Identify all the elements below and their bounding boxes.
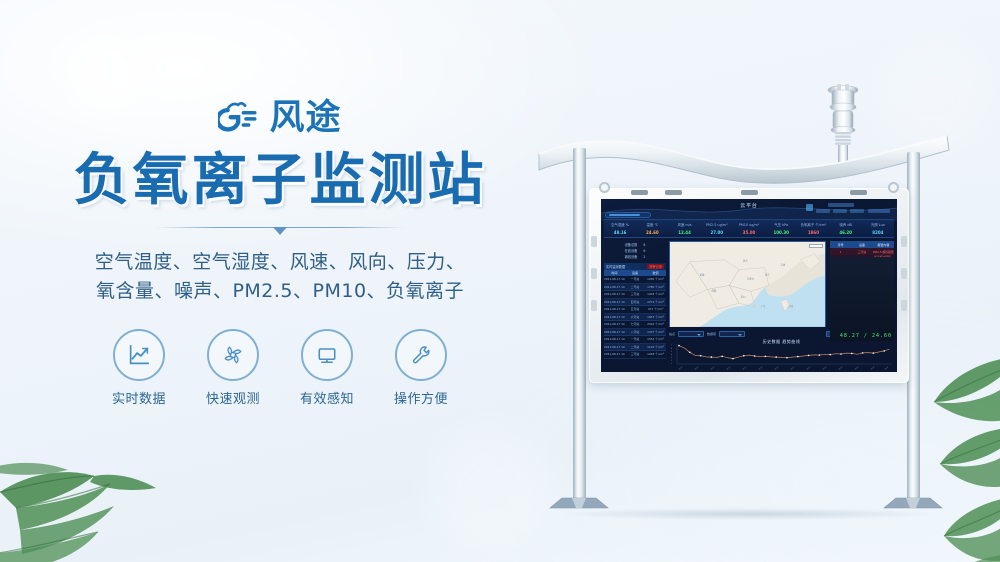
cell-value: 1405 个/cm³ [645, 292, 666, 296]
select1-label: 站点 [669, 332, 675, 336]
svg-text:4: 4 [671, 354, 672, 356]
metric-key: PM2.5 ug/m³ [701, 223, 733, 227]
cell-time: 2021-08-17 10:15:30 [604, 352, 625, 356]
cell-time: 2021-08-17 10:22:30 [604, 300, 625, 304]
cell-value: 1280 个/cm³ [645, 277, 666, 281]
select2-label: 数据项 [707, 332, 716, 336]
dashboard-screen[interactable]: 云平台 空气湿度 % 48.16 [601, 199, 897, 372]
metric-cell: PM10 ug/m³ 35.00 [733, 220, 765, 237]
decorative-leaves-right [856, 358, 1000, 562]
cell-device: 三号站 [625, 352, 646, 356]
subtitle-line-2: 氧含量、噪声、PM2.5、PM10、负氧离子 [0, 277, 560, 306]
map-zoom-control[interactable] [809, 244, 823, 248]
radar-fan-icon [207, 329, 259, 381]
cell-value: 1337 个/cm³ [645, 330, 666, 334]
feature-label: 有效感知 [296, 388, 358, 407]
stat-row: 离线设备 2 [604, 254, 666, 260]
cell-device: 二号站 [625, 345, 646, 349]
metric-value: 8204 [862, 231, 894, 235]
metric-value: 24.60 [636, 231, 668, 235]
stat-label: 离线设备 [625, 254, 638, 260]
marketing-copy: 风途 负氧离子监测站 空气温度、空气湿度、风速、风向、压力、 氧含量、噪声、PM… [0, 96, 560, 407]
housing-bolt [901, 300, 907, 311]
cell-value: 2016 个/cm³ [645, 322, 666, 326]
table-row[interactable]: 2021-08-17 10:15:30 三号站 1928 个/cm³ [604, 351, 666, 359]
cell-value: 1928 个/cm³ [645, 352, 666, 356]
mount-clip [631, 190, 648, 195]
metric-value: 1860 [797, 231, 829, 235]
feature-label: 操作方便 [390, 388, 452, 407]
topright-chip [850, 209, 864, 213]
housing-bolt [591, 300, 597, 311]
alarm-message: PM2.5 超标报警 [873, 250, 894, 254]
mount-hook-right [888, 182, 899, 193]
svg-text:2: 2 [671, 360, 672, 362]
data-item-select[interactable] [719, 331, 745, 337]
alarm-device: 三号站 [851, 250, 872, 254]
wrench-icon [395, 329, 447, 381]
metric-cell: 风速 m/s 12.44 [668, 220, 700, 237]
brand-lockup: 风途 [0, 96, 560, 140]
svg-text:08-25: 08-25 [806, 367, 811, 371]
cell-time: 2021-08-17 10:17:30 [604, 337, 625, 341]
dashboard-topright-widgets [806, 203, 894, 219]
metric-cell: 温度 ℃ 24.60 [636, 220, 668, 237]
topright-chip [806, 204, 813, 211]
svg-text:北京: 北京 [765, 273, 770, 277]
cell-time: 2021-08-17 10:20:30 [604, 315, 625, 319]
alarm-badge[interactable]: 报警记录 [647, 264, 664, 269]
wind-cloud-g-logo-icon [218, 98, 260, 138]
cell-device: 四号站 [625, 300, 646, 304]
svg-text:08-28: 08-28 [822, 367, 827, 371]
metric-key: 光照 Lux [862, 223, 894, 227]
metric-value: 12.44 [668, 231, 700, 235]
table-title: 实时监测数据 [606, 264, 625, 269]
svg-text:四川: 四川 [741, 295, 746, 298]
svg-text:08-04: 08-04 [694, 367, 699, 371]
metric-cell: 噪声 dB 46.20 [830, 220, 862, 237]
table-row[interactable]: 2021-08-17 10:18:30 八号站 1337 个/cm³ [604, 329, 666, 337]
promo-banner: 风途 负氧离子监测站 空气温度、空气湿度、风速、风向、压力、 氧含量、噪声、PM… [0, 0, 1000, 562]
metric-key: 温度 ℃ [636, 223, 668, 227]
alarm-panel: 序号 设备 报警内容 1 三号站 PM2.5 超标报警 2 六号站 噪声超过阈值… [830, 241, 894, 369]
metric-value: 35.00 [733, 231, 765, 235]
column-header: 设备 [625, 271, 646, 275]
metric-cell: PM2.5 ug/m³ 27.00 [701, 220, 733, 237]
svg-text:08-19: 08-19 [774, 367, 779, 371]
table-row[interactable]: 2021-08-17 10:23:30 三号站 1405 个/cm³ [604, 291, 666, 299]
left-data-panel: 设备总数 8 在线设备 6 离线设备 2 实时监测数据 [604, 241, 666, 369]
cell-time: 2021-08-17 10:16:30 [604, 345, 625, 349]
title-divider [155, 223, 405, 235]
svg-text:7: 7 [671, 345, 672, 347]
cell-device: 一号站 [625, 337, 646, 341]
cell-device: 六号站 [625, 315, 646, 319]
svg-text:08-07: 08-07 [710, 367, 715, 371]
monitor-icon [301, 329, 353, 381]
svg-text:吉林: 吉林 [781, 263, 786, 267]
table-header-bar: 实时监测数据 报警记录 [604, 263, 666, 270]
cell-time: 2021-08-17 10:21:30 [604, 307, 625, 311]
alarm-column-header: 报警内容 [873, 243, 894, 247]
svg-text:3: 3 [671, 357, 672, 359]
metric-key: 风速 m/s [668, 223, 700, 227]
digit-readout: 48.27 / 24.60 [840, 333, 892, 339]
display-housing: 云平台 空气湿度 % 48.16 [589, 188, 909, 383]
metric-value: 46.20 [830, 231, 862, 235]
table-row[interactable]: 2021-08-17 10:25:30 一号站 1280 个/cm³ [604, 276, 666, 284]
table-row[interactable]: 2021-08-17 10:22:30 四号站 2274 个/cm³ [604, 299, 666, 307]
cell-value: 2274 个/cm³ [645, 300, 666, 304]
cell-value: 1104 个/cm³ [645, 345, 666, 349]
column-header: 数值 [645, 271, 666, 275]
bokeh-blob [250, 10, 320, 80]
svg-text:1: 1 [671, 363, 672, 365]
table-row[interactable]: 2021-08-17 10:16:30 二号站 1104 个/cm³ [604, 344, 666, 352]
cell-time: 2021-08-17 10:23:30 [604, 292, 625, 296]
svg-text:广东: 广东 [761, 304, 766, 308]
svg-text:新疆: 新疆 [700, 273, 705, 277]
alarm-column-header: 设备 [851, 243, 872, 247]
support-post-left [573, 148, 586, 500]
housing-bolt [591, 268, 597, 279]
cell-value: 1552 个/cm³ [645, 337, 666, 341]
svg-text:08-16: 08-16 [758, 367, 763, 371]
metric-key: 空气湿度 % [604, 223, 636, 227]
table-row[interactable]: 2021-08-17 10:19:30 七号站 2016 个/cm³ [604, 321, 666, 329]
svg-text:08-13: 08-13 [742, 367, 747, 371]
svg-text:内蒙古: 内蒙古 [747, 277, 755, 281]
svg-text:6: 6 [671, 348, 672, 350]
station-select[interactable] [678, 331, 704, 337]
metric-key: 负氧离子 个/cm³ [797, 223, 829, 227]
housing-bolt [901, 268, 907, 279]
station-tag-badge[interactable] [605, 212, 651, 218]
metric-key: PM10 ug/m³ [733, 223, 765, 227]
cell-time: 2021-08-17 10:24:30 [604, 285, 625, 289]
topright-chip [828, 203, 854, 207]
cell-device: 七号站 [625, 322, 646, 326]
cell-device: 八号站 [625, 330, 646, 334]
column-header: 时间 [604, 271, 625, 275]
svg-text:08-01: 08-01 [678, 367, 683, 371]
table-row[interactable]: 2021-08-17 10:20:30 六号站 1843 个/cm³ [604, 314, 666, 322]
svg-text:08-22: 08-22 [790, 367, 795, 371]
svg-text:08-10: 08-10 [726, 367, 731, 371]
metric-cell: 气压 kPa 100.30 [765, 220, 797, 237]
metric-value: 48.16 [604, 231, 636, 235]
metric-cell: 空气湿度 % 48.16 [604, 220, 636, 237]
svg-text:5: 5 [671, 351, 672, 353]
table-row[interactable]: 2021-08-17 10:17:30 一号站 1552 个/cm³ [604, 336, 666, 344]
svg-text:蒙古: 蒙古 [743, 259, 748, 263]
metric-cell: 光照 Lux 8204 [862, 220, 894, 237]
feature-item-fast-observation[interactable]: 快速观测 [202, 329, 264, 407]
alarm-index: 1 [830, 250, 851, 254]
topright-chip [833, 209, 847, 213]
table-row[interactable]: 2021-08-17 10:21:30 五号站 971 个/cm³ [604, 306, 666, 314]
cell-time: 2021-08-17 10:19:30 [604, 322, 625, 326]
table-row[interactable]: 2021-08-17 10:24:30 二号站 1786 个/cm³ [604, 284, 666, 292]
subtitle-line-1: 空气温度、空气湿度、风速、风向、压力、 [0, 248, 560, 277]
metric-key: 噪声 dB [830, 223, 862, 227]
metric-cell: 负氧离子 个/cm³ 1860 [797, 220, 829, 237]
alarm-column-header: 序号 [830, 243, 851, 247]
cell-value: 1843 个/cm³ [645, 315, 666, 319]
mount-clip [741, 190, 758, 195]
metric-value: 27.00 [701, 231, 733, 235]
housing-bolt [901, 236, 907, 247]
cell-device: 二号站 [625, 285, 646, 289]
stat-value: 2 [643, 254, 645, 260]
subtitle: 空气温度、空气湿度、风速、风向、压力、 氧含量、噪声、PM2.5、PM10、负氧… [0, 248, 560, 307]
feature-label: 快速观测 [202, 388, 264, 407]
cell-device: 三号站 [625, 292, 646, 296]
base-plate-left [548, 494, 610, 510]
cell-value: 971 个/cm³ [645, 307, 666, 311]
map-landmass: 蒙古 新疆 西藏 内蒙古 四川 广东 吉林 北京 台湾 [670, 242, 825, 327]
cell-time: 2021-08-17 10:18:30 [604, 330, 625, 334]
topright-chip [816, 209, 830, 213]
housing-bolt [591, 236, 597, 247]
feature-item-effective-sensing[interactable]: 有效感知 [296, 329, 358, 407]
cell-device: 五号站 [625, 307, 646, 311]
metric-key: 气压 kPa [765, 223, 797, 227]
mount-clip [665, 190, 682, 195]
feature-item-easy-operation[interactable]: 操作方便 [390, 329, 452, 407]
device-stats: 设备总数 8 在线设备 6 离线设备 2 [604, 241, 666, 261]
decorative-leaves-left [0, 372, 200, 562]
cell-time: 2021-08-17 10:25:30 [604, 277, 625, 281]
svg-text:台湾: 台湾 [788, 304, 793, 308]
brand-name: 风途 [269, 101, 341, 136]
camera-feed-placeholder [830, 257, 894, 341]
divider-triangle-icon [273, 227, 287, 235]
cell-value: 1786 个/cm³ [645, 285, 666, 289]
svg-text:西藏: 西藏 [711, 288, 716, 292]
cell-device: 一号站 [625, 277, 646, 281]
metric-value: 100.30 [765, 231, 797, 235]
mount-hook-left [599, 182, 610, 193]
topright-chip [868, 209, 890, 213]
metrics-strip: 空气湿度 % 48.16 温度 ℃ 24.60 风速 m/s 12.44 PM2… [604, 219, 894, 238]
china-map[interactable]: 蒙古 新疆 西藏 内蒙古 四川 广东 吉林 北京 台湾 [669, 241, 826, 327]
page-title: 负氧离子监测站 [0, 152, 560, 211]
alarm-column-headers: 序号 设备 报警内容 [830, 241, 894, 248]
mount-clip [850, 190, 867, 195]
